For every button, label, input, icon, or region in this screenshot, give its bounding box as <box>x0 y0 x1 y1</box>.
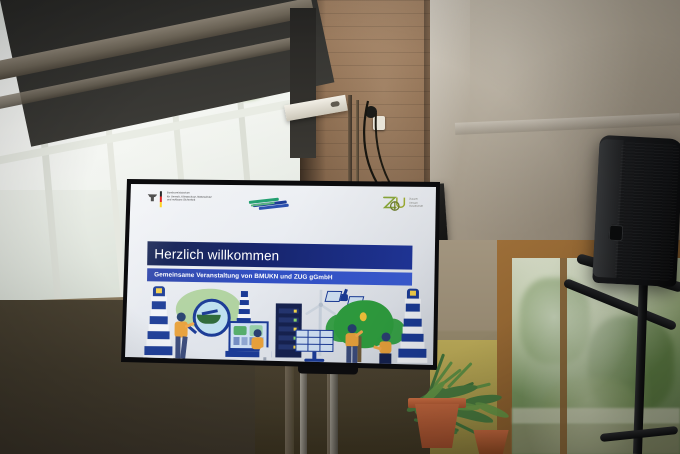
slide-subtitle-bar: Gemeinsame Veranstaltung von BMUKN und Z… <box>147 268 412 285</box>
bmukn-logo: Bundesministerium für Umwelt, Klimaschut… <box>148 191 212 208</box>
federal-eagle-icon <box>148 192 157 201</box>
lighthouse-right <box>397 289 428 363</box>
slide-title-bar: Herzlich willkommen <box>147 241 412 269</box>
zug-line-3: Gesellschaft <box>409 205 423 208</box>
ministry-line-3: und nukleare Sicherheit <box>167 198 195 201</box>
zug-logo: Zukunft Umwelt Gesellschaft <box>382 194 423 211</box>
energy-environment-illustration <box>129 284 435 365</box>
person-at-desk <box>251 329 273 361</box>
person-harvesting <box>343 324 363 364</box>
wall-mounted-tv[interactable]: Bundesministerium für Umwelt, Klimaschut… <box>118 176 442 372</box>
slide-logo-row: Bundesministerium für Umwelt, Klimaschut… <box>131 184 436 221</box>
slide-subtitle: Gemeinsame Veranstaltung von BMUKN und Z… <box>147 271 333 281</box>
window-edge-dark <box>290 8 316 158</box>
person-with-basket <box>377 332 397 364</box>
lighthouse-left <box>143 286 174 360</box>
batten-screw <box>330 101 340 107</box>
magnifier-icon <box>193 299 227 333</box>
presentation-slide: Bundesministerium für Umwelt, Klimaschut… <box>129 184 436 365</box>
center-logo <box>249 197 293 209</box>
speaker-grille <box>614 142 679 281</box>
speaker-handle <box>609 225 624 242</box>
tv-screen[interactable]: Bundesministerium für Umwelt, Klimaschut… <box>118 176 442 372</box>
tv-mount-foot <box>298 365 358 374</box>
zug-mark-icon <box>382 194 406 211</box>
slide-title: Herzlich willkommen <box>147 246 279 263</box>
fruit-icon <box>360 312 367 321</box>
german-flag-bar-icon <box>160 191 162 207</box>
pa-speaker <box>592 135 680 287</box>
solar-panel <box>295 330 333 362</box>
window-right-glass <box>512 258 680 454</box>
person-with-magnifier <box>171 312 191 360</box>
photo-scene: Bundesministerium für Umwelt, Klimaschut… <box>0 0 680 454</box>
